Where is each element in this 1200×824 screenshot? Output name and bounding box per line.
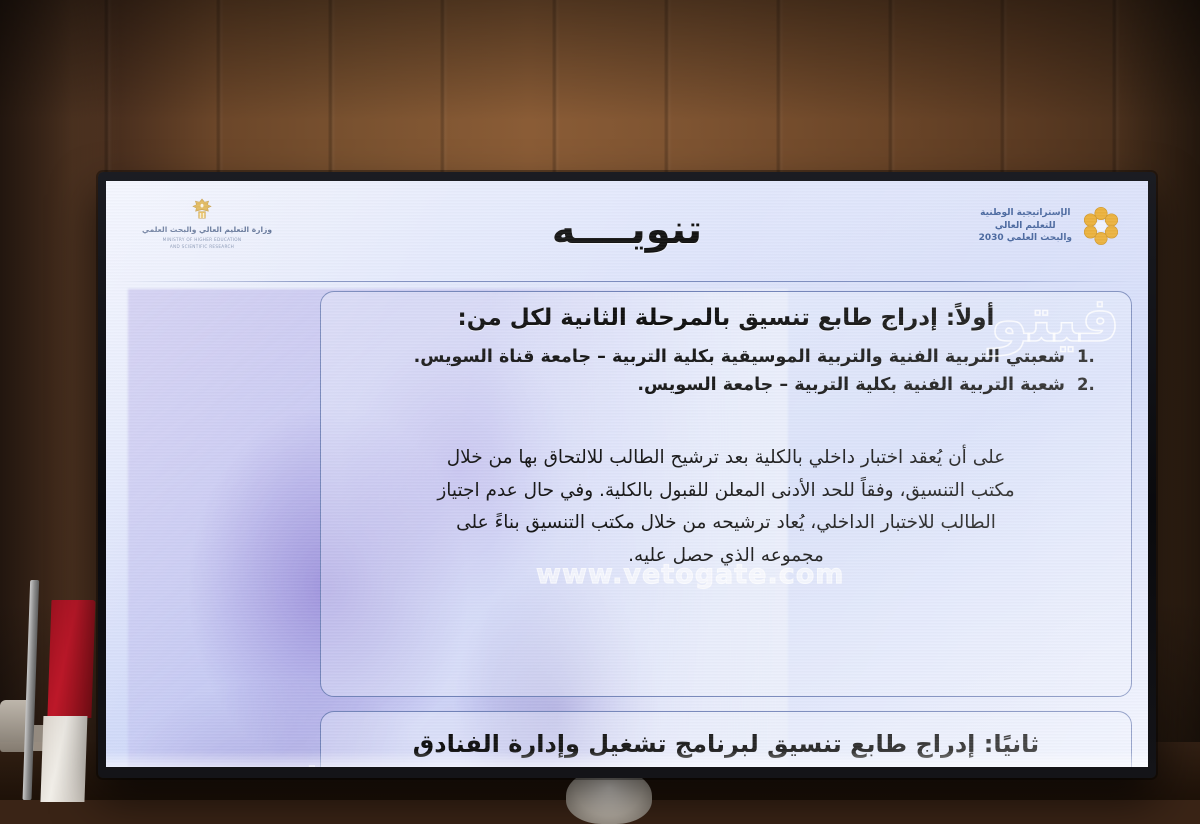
list-item: 1. شعبتي التربية الفنية والتربية الموسيق…: [355, 343, 1097, 371]
section-two-box: ثانيًا: إدراج طابع تنسيق لبرنامج تشغيل و…: [320, 711, 1132, 767]
slide-surface: وزارة التعليم العالي والبحث العلمي MINIS…: [106, 181, 1148, 767]
paragraph-line: مجموعه الذي حصل عليه.: [349, 540, 1103, 573]
egyptian-flag: [35, 600, 94, 800]
paragraph-line: على أن يُعقد اختبار داخلي بالكلية بعد تر…: [349, 442, 1103, 475]
list-item-text: شعبتي التربية الفنية والتربية الموسيقية …: [414, 343, 1065, 371]
flag-red-band: [47, 600, 95, 718]
paragraph-line: مكتب التنسيق، وفقاً للحد الأدنى المعلن ل…: [349, 475, 1103, 508]
section-one-box: أولاً: إدراج طابع تنسيق بالمرحلة الثانية…: [320, 291, 1132, 697]
list-item: 2. شعبة التربية الفنية بكلية التربية – ج…: [355, 371, 1097, 399]
page-title: تنويــــه: [106, 207, 1148, 253]
slide-header: وزارة التعليم العالي والبحث العلمي MINIS…: [106, 181, 1148, 277]
paragraph-line: الطالب للاختبار الداخلي، يُعاد ترشيحه من…: [349, 507, 1103, 540]
presentation-screen: وزارة التعليم العالي والبحث العلمي MINIS…: [106, 181, 1148, 767]
flag-white-band: [40, 716, 87, 802]
title-divider: [120, 281, 1134, 282]
section-two-heading: ثانيًا: إدراج طابع تنسيق لبرنامج تشغيل و…: [343, 728, 1109, 760]
list-item-number: 2.: [1077, 372, 1097, 399]
section-one-paragraph: على أن يُعقد اختبار داخلي بالكلية بعد تر…: [343, 442, 1109, 574]
section-one-heading: أولاً: إدراج طابع تنسيق بالمرحلة الثانية…: [343, 304, 1109, 334]
presentation-screen-frame: وزارة التعليم العالي والبحث العلمي MINIS…: [98, 172, 1156, 778]
list-item-number: 1.: [1077, 344, 1097, 371]
section-one-list: 1. شعبتي التربية الفنية والتربية الموسيق…: [355, 343, 1097, 400]
list-item-text: شعبة التربية الفنية بكلية التربية – جامع…: [637, 371, 1065, 399]
conference-room-background: وزارة التعليم العالي والبحث العلمي MINIS…: [0, 0, 1200, 800]
wall-shadow-top: [0, 0, 1200, 120]
